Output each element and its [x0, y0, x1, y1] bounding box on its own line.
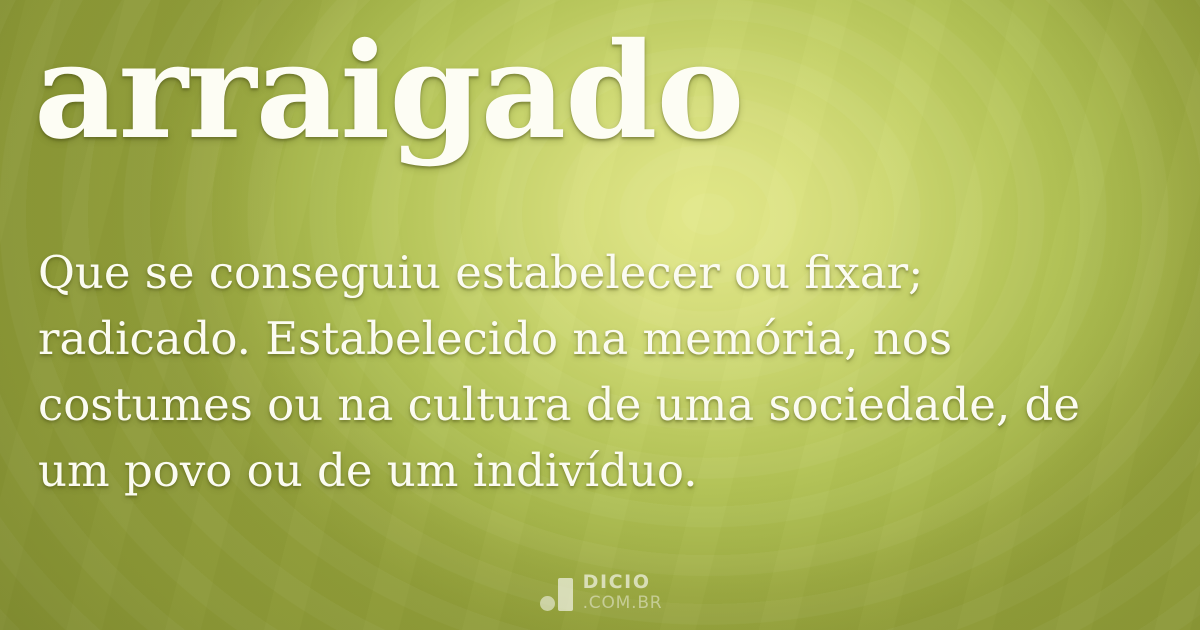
logo-bar-shape	[558, 578, 573, 611]
logo-brand-name: DICIO	[583, 573, 663, 592]
logo-brand-tld: .COM.BR	[583, 595, 663, 612]
site-logo: DICIO .COM.BR	[0, 573, 1200, 612]
page-title: arraigado	[34, 26, 743, 158]
dicio-logo-icon	[538, 575, 574, 611]
logo-dot-shape	[540, 596, 555, 611]
definition-text: Que se conseguiu estabelecer ou fixar; r…	[38, 240, 1148, 504]
logo-wordmark: DICIO .COM.BR	[583, 573, 663, 612]
card-content: arraigado Que se conseguiu estabelecer o…	[0, 0, 1200, 630]
dictionary-word-card: arraigado Que se conseguiu estabelecer o…	[0, 0, 1200, 630]
